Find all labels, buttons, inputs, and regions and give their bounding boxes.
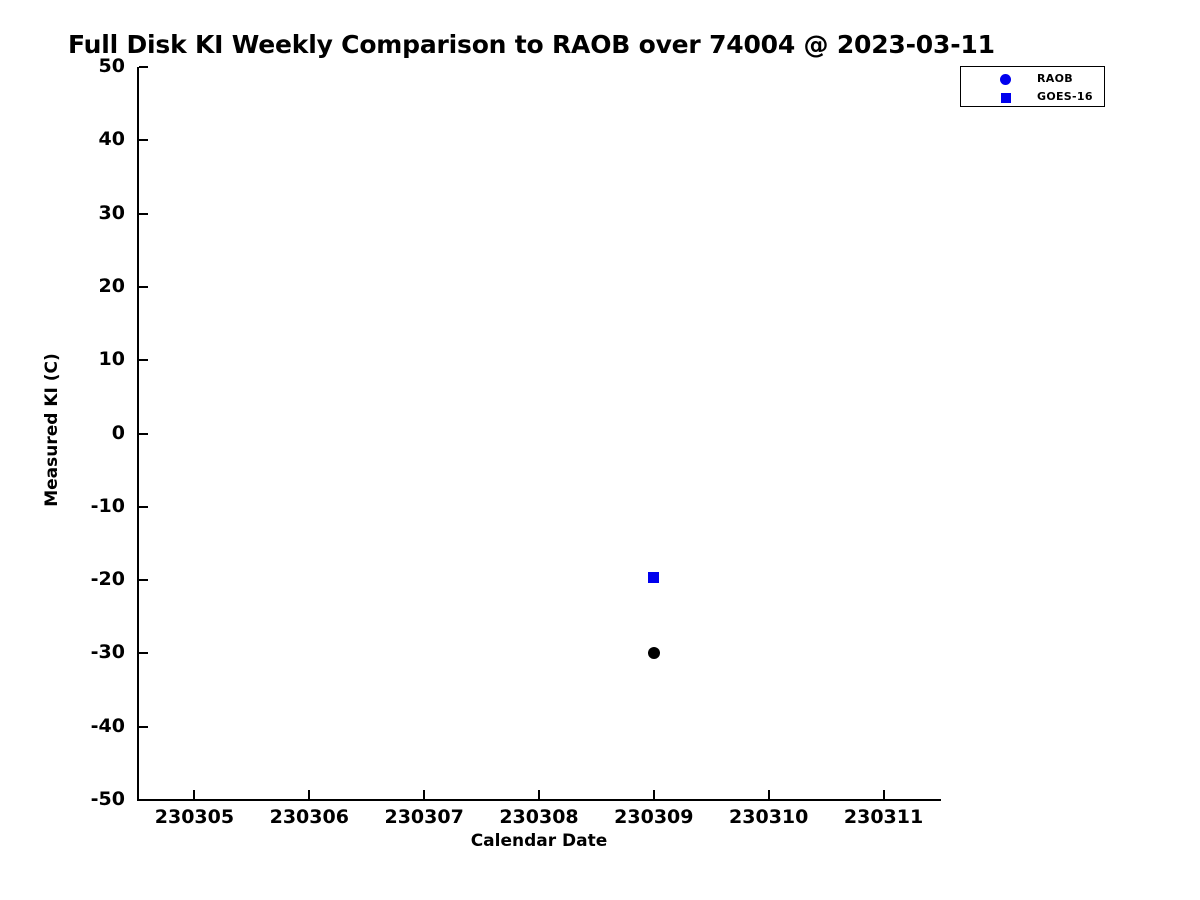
circle-marker-icon [999, 73, 1013, 87]
x-tick-mark [538, 790, 540, 799]
x-axis-line [137, 799, 941, 801]
x-tick-mark [653, 790, 655, 799]
y-tick-mark [139, 213, 148, 215]
x-tick-mark [308, 790, 310, 799]
y-tick-mark [139, 726, 148, 728]
x-axis-label: Calendar Date [137, 831, 941, 851]
y-tick-label: -20 [35, 570, 125, 589]
legend-label: GOES-16 [1037, 90, 1093, 103]
data-point-raob [648, 647, 660, 659]
y-tick-label: 30 [35, 204, 125, 223]
x-tick-mark [193, 790, 195, 799]
y-tick-mark [139, 579, 148, 581]
y-tick-mark [139, 286, 148, 288]
legend-entry: RAOB [961, 70, 1104, 88]
y-tick-mark [139, 506, 148, 508]
y-tick-mark [139, 799, 148, 801]
legend-label: RAOB [1037, 72, 1073, 85]
chart-legend: RAOBGOES-16 [960, 66, 1105, 107]
y-tick-mark [139, 433, 148, 435]
y-tick-mark [139, 652, 148, 654]
x-tick-mark [883, 790, 885, 799]
y-tick-label: 20 [35, 277, 125, 296]
plot-area [137, 67, 941, 800]
legend-entry: GOES-16 [961, 88, 1104, 106]
chart-figure: Full Disk KI Weekly Comparison to RAOB o… [0, 0, 1200, 900]
y-tick-mark [139, 66, 148, 68]
x-tick-mark [423, 790, 425, 799]
y-tick-label: -50 [35, 790, 125, 809]
square-marker-icon [999, 91, 1013, 105]
page-title: Full Disk KI Weekly Comparison to RAOB o… [68, 30, 1128, 59]
x-tick-mark [768, 790, 770, 799]
legend-swatch [1001, 93, 1011, 103]
x-tick-label: 230311 [804, 808, 964, 827]
y-tick-label: 50 [35, 57, 125, 76]
y-tick-mark [139, 359, 148, 361]
y-tick-label: 40 [35, 130, 125, 149]
data-point-goes-16 [648, 572, 659, 583]
legend-swatch [1000, 74, 1011, 85]
y-tick-label: -30 [35, 643, 125, 662]
y-axis-label: Measured KI (C) [42, 350, 62, 510]
y-tick-mark [139, 139, 148, 141]
y-tick-label: -40 [35, 717, 125, 736]
